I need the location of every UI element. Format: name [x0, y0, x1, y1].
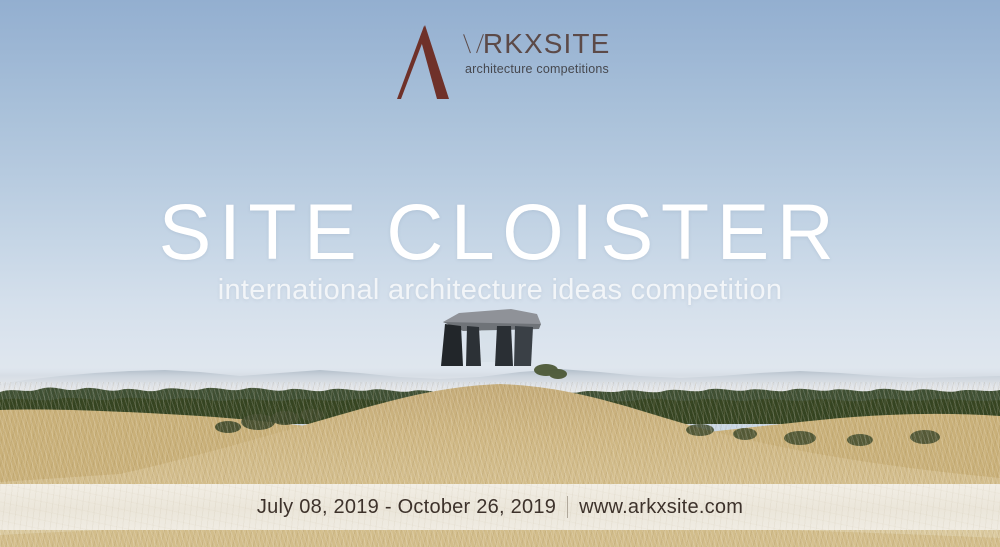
info-band-content: July 08, 2019 - October 26, 2019 www.ark…	[257, 496, 743, 519]
dolmen-upright-right	[514, 326, 533, 366]
logo-wordmark-rest: RKXSITE	[483, 28, 611, 59]
logo-text-block: RKXSITE architecture competitions	[465, 23, 610, 76]
competition-date-range: July 08, 2019 - October 26, 2019	[257, 496, 556, 519]
page-subtitle: international architecture ideas competi…	[0, 276, 1000, 305]
logo-wordmark: RKXSITE	[465, 30, 610, 58]
dolmen-upright-mid-right	[495, 326, 513, 366]
logo-tagline: architecture competitions	[465, 63, 610, 76]
dolmen-upright-left	[441, 324, 463, 366]
page-title: SITECLOISTER	[0, 192, 1000, 271]
band-separator	[567, 496, 568, 518]
poster-canvas: RKXSITE architecture competitions SITECL…	[0, 0, 1000, 547]
title-word-one: SITE	[159, 187, 365, 276]
dolmen-upright-mid-left	[466, 326, 481, 366]
title-word-two: CLOISTER	[386, 187, 841, 276]
arkxsite-logo[interactable]: RKXSITE architecture competitions	[393, 23, 623, 101]
logo-wordmark-a	[465, 33, 482, 53]
arkxsite-a-mark	[393, 23, 455, 101]
website-url[interactable]: www.arkxsite.com	[579, 496, 743, 519]
dolmen-megalith	[415, 300, 575, 392]
info-band: July 08, 2019 - October 26, 2019 www.ark…	[0, 484, 1000, 530]
